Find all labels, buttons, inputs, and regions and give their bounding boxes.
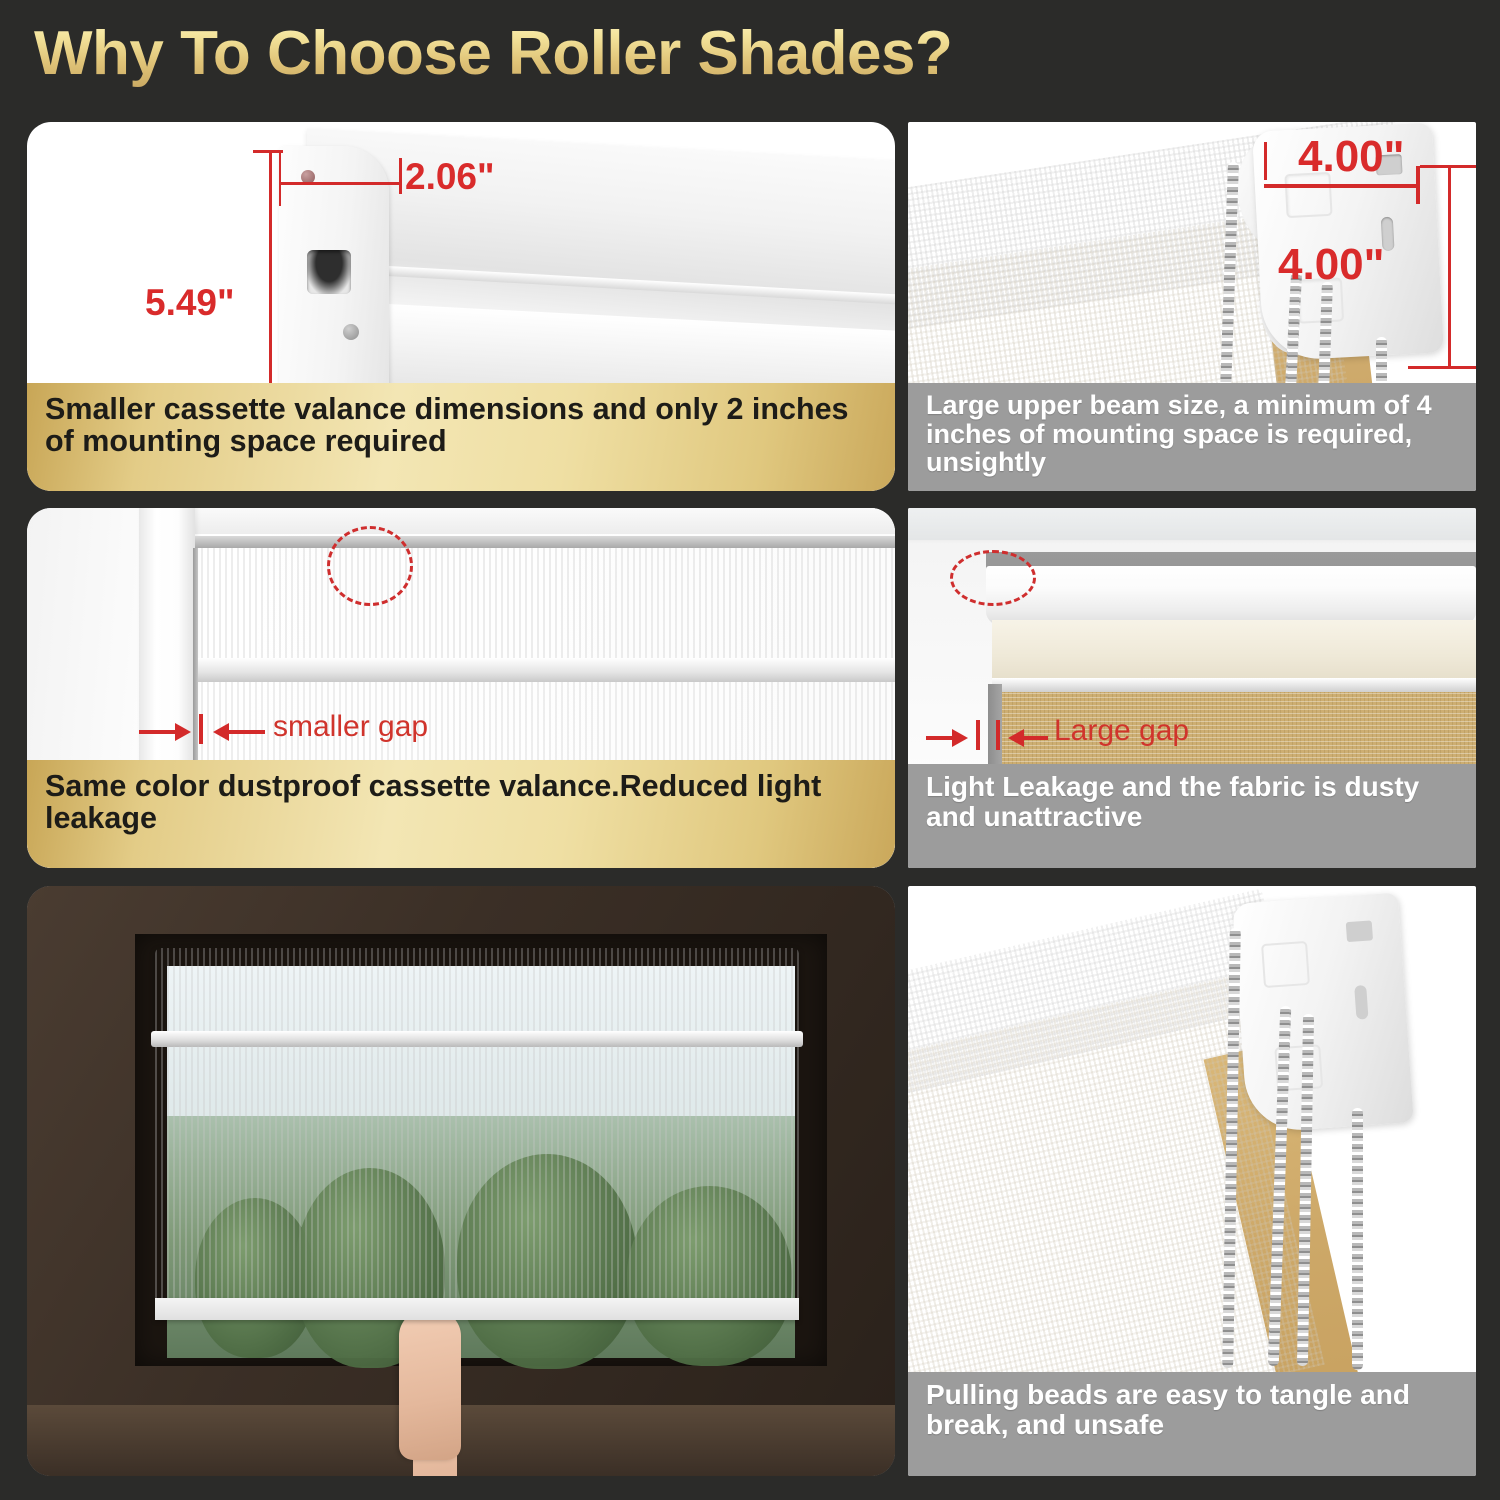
arrow-stem-right (229, 730, 265, 734)
dim-tick-left (1264, 142, 1267, 180)
hand (399, 1310, 461, 1460)
arrow-stem-left (139, 730, 177, 734)
panel-dustproof-cassette-valance: smaller gap Same color dustproof cassett… (27, 508, 895, 868)
header: Why To Choose Roller Shades? (0, 0, 1500, 112)
gap-label-smaller: smaller gap (273, 710, 428, 744)
arrow-stem-right (1024, 736, 1048, 740)
arrow-left-icon (213, 723, 229, 741)
panel-free-stop-cordless: Free-stop cordless design is safer and m… (27, 886, 895, 1476)
dim-tick-right (399, 158, 402, 194)
highlight-circle-icon (950, 550, 1036, 606)
gap-marker-a (976, 720, 980, 750)
arrow-right-icon (175, 723, 191, 741)
caption-large-upper-beam: Large upper beam size, a minimum of 4 in… (908, 383, 1476, 491)
bead-chain (1352, 1108, 1363, 1370)
page-title: Why To Choose Roller Shades? (34, 18, 952, 89)
caption-light-leakage: Light Leakage and the fabric is dusty an… (908, 764, 1476, 868)
dimension-label-width: 4.00" (1298, 132, 1405, 182)
panel-pulling-beads: Pulling beads are easy to tangle and bre… (908, 886, 1476, 1476)
gap-marker (199, 714, 203, 744)
panel-cassette-valance-dimensions: 2.06" 5.49" Smaller cassette valance dim… (27, 122, 895, 491)
arrow-right-icon (952, 729, 968, 747)
arrow-left-icon (1008, 729, 1024, 747)
caption-cassette-valance-dimensions: Smaller cassette valance dimensions and … (27, 383, 895, 491)
dim-line-height (1448, 165, 1451, 368)
dim-cap-bottom (1408, 366, 1476, 369)
dim-line-width (1264, 184, 1420, 188)
gap-label-large: Large gap (1054, 714, 1189, 748)
dimension-label-width: 2.06" (405, 156, 495, 198)
gap-marker-b (996, 720, 1000, 750)
dim-tick-right (1416, 166, 1420, 204)
product-photo-window-scene (27, 886, 895, 1476)
dim-cap-top (253, 150, 283, 153)
arrow-stem-left (926, 736, 954, 740)
dim-line-width (279, 182, 401, 185)
caption-pulling-beads: Pulling beads are easy to tangle and bre… (908, 1372, 1476, 1476)
panel-light-leakage: Large gap Light Leakage and the fabric i… (908, 508, 1476, 868)
caption-dustproof-cassette-valance: Same color dustproof cassette valance.Re… (27, 760, 895, 868)
dimension-label-height: 4.00" (1278, 240, 1385, 290)
dim-tick-left (279, 152, 281, 206)
panel-large-upper-beam: 4.00" 4.00" Large upper beam size, a min… (908, 122, 1476, 491)
dimension-label-height: 5.49" (145, 282, 235, 324)
highlight-circle-icon (327, 526, 413, 606)
